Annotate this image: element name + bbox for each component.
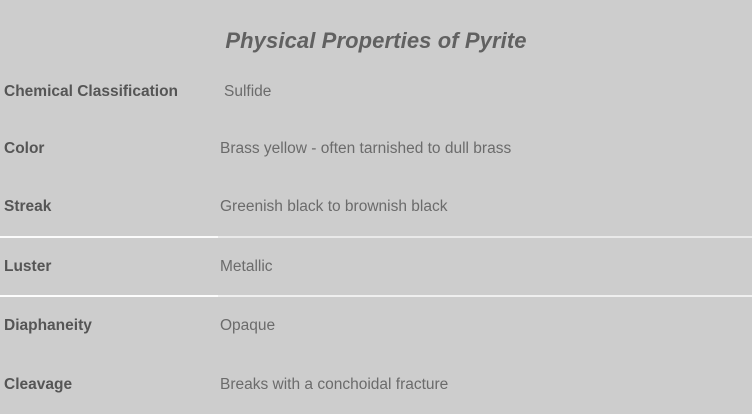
property-value-chemical-classification: Sulfide [218, 64, 752, 119]
property-label-luster: Luster [0, 237, 218, 296]
properties-panel: Physical Properties of Pyrite Chemical C… [0, 0, 752, 409]
property-value-color: Brass yellow - often tarnished to dull b… [218, 119, 752, 178]
properties-table: Chemical Classification Sulfide Color Br… [0, 64, 752, 414]
table-row: Cleavage Breaks with a conchoidal fractu… [0, 355, 752, 414]
table-row-highlighted: Luster Metallic [0, 237, 752, 296]
table-row: Chemical Classification Sulfide [0, 64, 752, 119]
property-label-diaphaneity: Diaphaneity [0, 296, 218, 355]
table-row: Color Brass yellow - often tarnished to … [0, 119, 752, 178]
property-value-streak: Greenish black to brownish black [218, 178, 752, 237]
properties-table-body: Chemical Classification Sulfide Color Br… [0, 64, 752, 414]
page-title: Physical Properties of Pyrite [0, 28, 752, 54]
property-value-cleavage: Breaks with a conchoidal fracture [218, 355, 752, 414]
property-label-chemical-classification: Chemical Classification [0, 64, 218, 119]
property-value-diaphaneity: Opaque [218, 296, 752, 355]
property-label-cleavage: Cleavage [0, 355, 218, 414]
property-value-luster: Metallic [218, 237, 752, 296]
table-row: Streak Greenish black to brownish black [0, 178, 752, 237]
property-label-color: Color [0, 119, 218, 178]
table-row: Diaphaneity Opaque [0, 296, 752, 355]
property-label-streak: Streak [0, 178, 218, 237]
